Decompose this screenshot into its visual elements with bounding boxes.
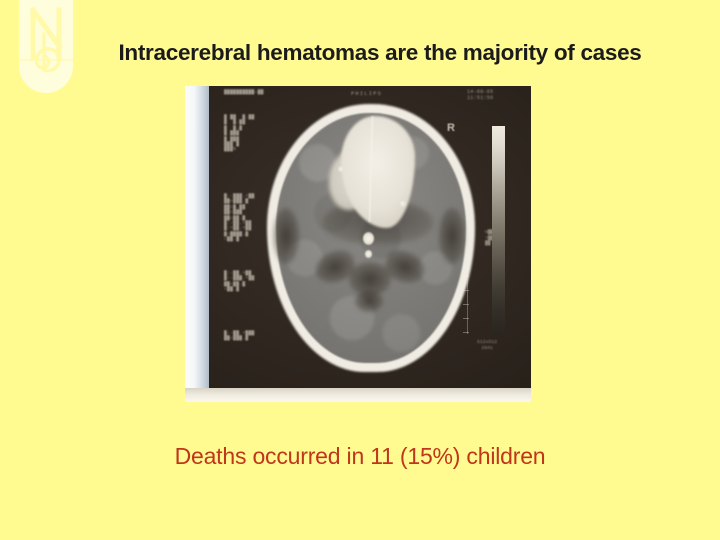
film-margin-left [185,86,209,402]
ct-vendor-label: PHILIPS [351,91,382,97]
calcification-dot [365,250,372,258]
ct-grayscale-wedge [492,126,505,334]
slide-caption: Deaths occurred in 11 (15%) children [0,443,720,470]
ct-params-block-b: █:-███.+██ ██=███.█ ██=█.██ ██=███ ██=██… [224,194,255,243]
slide-canvas: Intracerebral hematomas are the majority… [0,0,720,540]
ct-dark-field: ██████████-██ █ ██ █.██ █ █.██ █ █.█ █ █… [209,86,531,388]
film-margin-bottom [185,388,531,402]
ct-brain-slice [267,104,475,372]
ct-params-block-c: █:-██.+██ █:-███.+██ ██=██.█ =██.█ [224,271,255,293]
ct-patient-id-text: ██████████-██ [224,90,264,95]
ct-params-block-d: █:-██.+███ ██=███.█ [224,331,255,342]
ct-timestamp: 14-09-05 11:51:56 [467,90,493,102]
ct-film-photograph: ██████████-██ █ ██ █.██ █ █.██ █ █.█ █ █… [185,86,531,402]
calcification-dot [399,200,406,207]
temporal-hypodensity-left [273,208,299,264]
temporal-hypodensity-right [439,208,465,264]
calcification-dot [363,232,374,245]
ct-matrix-label: 512x512 2941 [477,340,497,352]
calcification-dot [338,166,344,172]
slide-title: Intracerebral hematomas are the majority… [60,40,700,66]
posterior-ventricle [355,290,383,312]
ct-params-block-a: █ ██ █.██ █ █.██ █ █.█ █ ███ █ ███ ███ █… [224,115,255,153]
